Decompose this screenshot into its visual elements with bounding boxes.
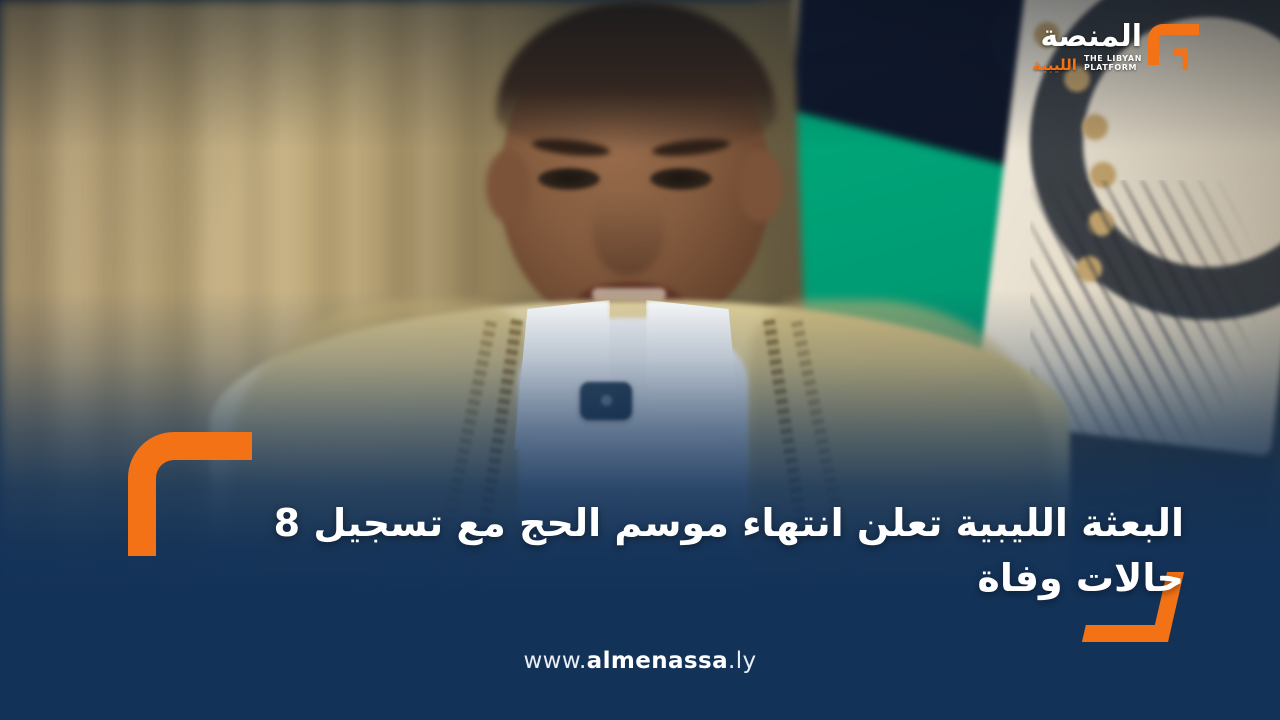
logo-english-line1: THE LIBYAN <box>1084 54 1142 63</box>
logo-english-line2: PLATFORM <box>1084 63 1137 72</box>
logo-arabic-sub: الليبية <box>1033 58 1077 73</box>
logo-subrow: THE LIBYAN PLATFORM الليبية <box>1033 55 1142 73</box>
brand-logo[interactable]: المنصة THE LIBYAN PLATFORM الليبية <box>1033 22 1192 73</box>
url-prefix: www. <box>523 648 586 674</box>
logo-mark-icon <box>1148 24 1192 70</box>
logo-arabic-main: المنصة <box>1033 22 1142 52</box>
url-tld: .ly <box>728 648 757 674</box>
logo-english: THE LIBYAN PLATFORM <box>1084 55 1142 73</box>
logo-mark-arm <box>1148 24 1199 65</box>
news-card: المنصة THE LIBYAN PLATFORM الليبية البعث… <box>0 0 1280 720</box>
url-name: almenassa <box>587 648 728 674</box>
logo-wordmark: المنصة THE LIBYAN PLATFORM الليبية <box>1033 22 1142 73</box>
website-url[interactable]: www.almenassa.ly <box>0 648 1280 674</box>
headline-text: البعثة الليبية تعلن انتهاء موسم الحج مع … <box>180 496 1184 605</box>
